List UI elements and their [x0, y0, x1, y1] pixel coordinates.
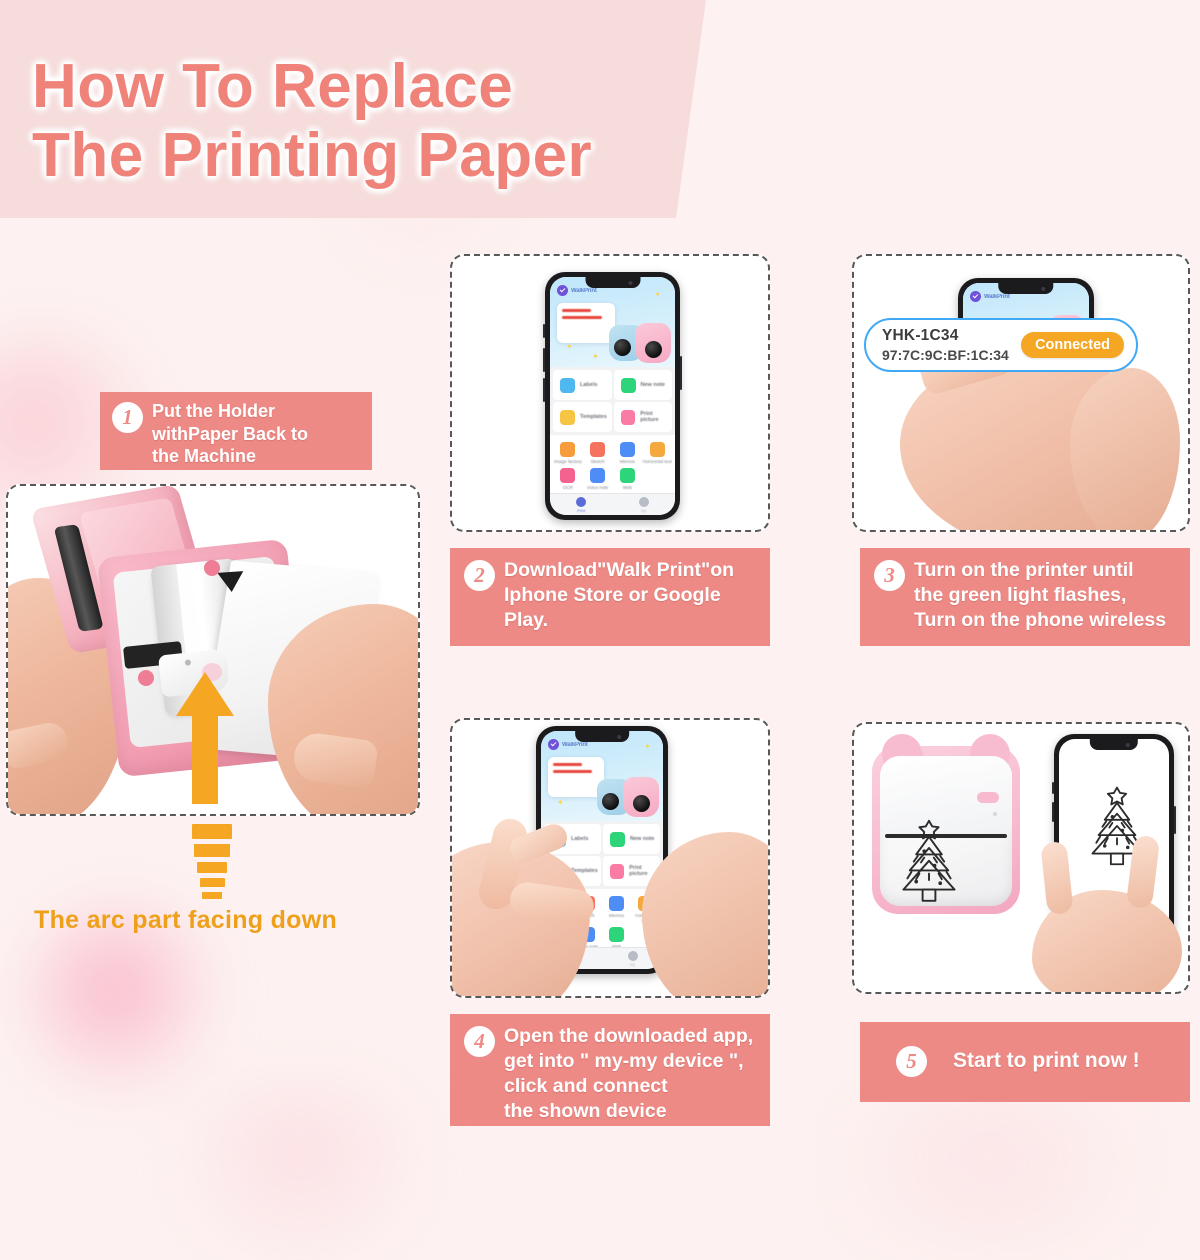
- my-tab-icon: [639, 497, 649, 507]
- banner-note-card: [557, 303, 615, 343]
- app-feature-tiles[interactable]: Labels New note Templates Print picture: [550, 367, 675, 435]
- step-5-text: Start to print now !: [953, 1048, 1140, 1075]
- print-picture-icon: [621, 410, 636, 425]
- phone-notch: [585, 277, 640, 288]
- horizontal-text-icon: [650, 442, 665, 457]
- step-3-number: 3: [874, 560, 905, 591]
- new-note-icon: [610, 832, 625, 847]
- step-1-number: 1: [112, 402, 143, 433]
- arrow-taper-icon: [180, 824, 244, 904]
- memos-icon: [620, 442, 635, 457]
- tile-label: Labels: [571, 836, 588, 842]
- tab-my[interactable]: My: [628, 951, 638, 967]
- grid-item-label: Web: [623, 485, 632, 490]
- step-3-text: Turn on the printer until the green ligh…: [914, 558, 1166, 633]
- step-3-caption: 3 Turn on the printer until the green li…: [860, 548, 1190, 646]
- new-note-icon: [621, 378, 636, 393]
- sketch-icon: [590, 442, 605, 457]
- step-2-photo-panel: WalkPrint ✦ ✦ ✦ Labels New note: [450, 254, 770, 532]
- step-1-photo-panel: [6, 484, 420, 816]
- my-tab-icon: [628, 951, 638, 961]
- step-5-number: 5: [896, 1046, 927, 1077]
- app-banner: WalkPrint ✦ ✦ ✦: [550, 277, 675, 367]
- grid-item-web[interactable]: Web: [613, 468, 643, 490]
- device-name: YHK-1C34: [882, 326, 1021, 345]
- arc-caption: The arc part facing down: [34, 906, 337, 935]
- app-tab-bar[interactable]: Print My: [550, 493, 675, 515]
- finger: [291, 731, 379, 790]
- grid-item-voice-note[interactable]: Voice note: [583, 468, 613, 490]
- tab-label: My: [630, 962, 635, 967]
- printer-paper-photo: [8, 486, 418, 814]
- sparkle-icon: ✦: [592, 353, 599, 361]
- app-logo-text: WalkPrint: [562, 742, 588, 748]
- step-5-caption: 5 Start to print now !: [860, 1022, 1190, 1102]
- arrow-shaft: [192, 710, 218, 804]
- tile-templates[interactable]: Templates: [553, 402, 612, 432]
- print-picture-icon: [610, 864, 624, 879]
- step-1-text: Put the Holder withPaper Back to the Mac…: [152, 400, 308, 468]
- phone-mockup: WalkPrint ✦ ✦ ✦ Labels New note: [545, 272, 680, 520]
- grid-item-label: Voice note: [587, 485, 608, 490]
- tab-my[interactable]: My: [639, 497, 649, 513]
- roll-pin: [138, 670, 154, 686]
- app-logo-text: WalkPrint: [984, 294, 1010, 300]
- image-factory-icon: [560, 442, 575, 457]
- page-title: How To Replace The Printing Paper: [32, 52, 712, 191]
- step-3-photo-panel: WalkPrint Templates Print picture Ima: [852, 254, 1190, 532]
- finger: [508, 880, 596, 925]
- tile-label: Labels: [580, 382, 597, 388]
- banner-note-card: [548, 757, 604, 797]
- up-arrow-icon: [176, 672, 232, 804]
- app-logo-icon: [557, 285, 568, 296]
- step-5-photo-panel: [852, 722, 1190, 994]
- phone-power-button: [1174, 806, 1176, 834]
- step-4-text: Open the downloaded app, get into " my-m…: [504, 1024, 753, 1124]
- tile-new-note[interactable]: New note: [603, 824, 660, 854]
- device-info: YHK-1C34 97:7C:9C:BF:1C:34: [882, 326, 1021, 364]
- step-2-caption: 2 Download"Walk Print"on Iphone Store or…: [450, 548, 770, 646]
- tile-new-note[interactable]: New note: [614, 370, 673, 400]
- app-banner: WalkPrint ✦ ✦: [541, 731, 663, 821]
- sparkle-icon: ✦: [644, 743, 651, 751]
- sparkle-icon: ✦: [566, 343, 573, 351]
- phone-notch: [1090, 739, 1138, 750]
- app-logo-icon: [548, 739, 559, 750]
- print-tab-icon: [576, 497, 586, 507]
- phone-side-button: [543, 324, 545, 338]
- phone-power-button: [680, 356, 682, 390]
- grid-item-memos[interactable]: Memos: [602, 896, 631, 923]
- grid-item-label: Memos: [609, 913, 624, 918]
- holder-dot: [185, 659, 192, 666]
- grid-item-empty: [642, 468, 672, 490]
- tile-label: Print picture: [640, 411, 672, 423]
- app-logo-text: WalkPrint: [571, 288, 597, 294]
- grid-item-image-factory[interactable]: Image factory: [553, 442, 583, 464]
- grid-item-horizontal-text[interactable]: Horizontal text: [642, 442, 672, 464]
- grid-item-label: Sketch: [591, 459, 605, 464]
- tab-label: My: [641, 508, 646, 513]
- phone-volume-down: [543, 378, 545, 402]
- phone-screen: WalkPrint ✦ ✦ ✦ Labels New note: [550, 277, 675, 515]
- labels-icon: [560, 378, 575, 393]
- sparkle-icon: ✦: [557, 799, 564, 807]
- step-2-number: 2: [464, 560, 495, 591]
- tile-label: New note: [630, 836, 654, 842]
- phone-notch: [575, 731, 629, 742]
- app-icon-grid[interactable]: Image factory Sketch Memos Horizontal te…: [550, 435, 675, 494]
- memos-icon: [609, 896, 624, 911]
- finger: [6, 720, 71, 771]
- grid-item-label: Image factory: [554, 459, 582, 464]
- web-icon: [620, 468, 635, 483]
- grid-item-sketch[interactable]: Sketch: [583, 442, 613, 464]
- printed-christmas-tree: [888, 816, 970, 912]
- phone-volume-up: [1052, 802, 1054, 822]
- templates-icon: [560, 410, 575, 425]
- step-4-caption: 4 Open the downloaded app, get into " my…: [450, 1014, 770, 1126]
- tab-label: Print: [577, 508, 585, 513]
- printer-led-dot: [993, 812, 997, 816]
- bluetooth-device-popup[interactable]: YHK-1C34 97:7C:9C:BF:1C:34 Connected: [864, 318, 1138, 372]
- connected-badge[interactable]: Connected: [1021, 332, 1124, 358]
- tile-label: Templates: [580, 414, 607, 420]
- printer-indicator-light: [977, 792, 999, 803]
- ocr-icon: [560, 468, 575, 483]
- step-4-photo-panel: WalkPrint ✦ ✦ Labels New note: [450, 718, 770, 998]
- app-logo-icon: [970, 291, 981, 302]
- phone-side-button: [1052, 782, 1054, 794]
- voice-note-icon: [590, 468, 605, 483]
- web-icon: [609, 927, 624, 942]
- phone-notch: [998, 283, 1053, 294]
- grid-item-ocr[interactable]: OCR: [553, 468, 583, 490]
- tab-print[interactable]: Print: [576, 497, 586, 513]
- grid-item-memos[interactable]: Memos: [613, 442, 643, 464]
- grid-item-label: OCR: [563, 485, 573, 490]
- roll-pin: [204, 560, 220, 576]
- sparkle-icon: ✦: [654, 291, 661, 299]
- grid-item-label: Horizontal text: [642, 459, 671, 464]
- phone-volume-up: [543, 348, 545, 372]
- tile-labels[interactable]: Labels: [553, 370, 612, 400]
- step-2-text: Download"Walk Print"on Iphone Store or G…: [504, 558, 758, 633]
- tile-print-picture[interactable]: Print picture: [614, 402, 673, 432]
- roll-arc-marker: [217, 571, 244, 593]
- grid-item-label: Memos: [620, 459, 635, 464]
- background-blob: [780, 1090, 1200, 1250]
- step-4-number: 4: [464, 1026, 495, 1057]
- supporting-hand: [1070, 368, 1180, 532]
- tile-label: New note: [641, 382, 665, 388]
- device-mac-address: 97:7C:9C:BF:1C:34: [882, 346, 1021, 364]
- background-blob: [150, 1080, 450, 1260]
- step-1-caption: 1 Put the Holder withPaper Back to the M…: [100, 392, 372, 470]
